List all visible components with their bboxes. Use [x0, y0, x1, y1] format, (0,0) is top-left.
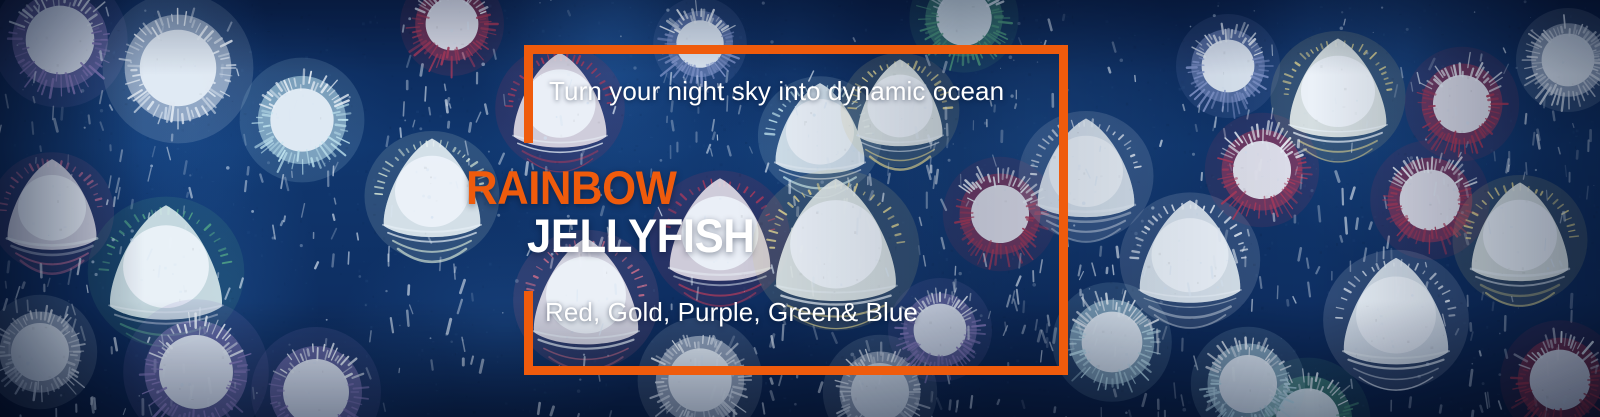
- frame-top-bar: [524, 45, 1068, 54]
- frame-left-upper-bar: [524, 45, 533, 143]
- frame-right-bar: [1059, 45, 1068, 375]
- frame-bottom-bar: [524, 366, 1068, 375]
- background-artwork: [0, 0, 1600, 417]
- headline-accent-rainbow: RAINBOW: [466, 163, 676, 213]
- banner-colors-list: Red, Gold, Purple, Green& Blue: [545, 295, 918, 329]
- headline-main-jellyfish: JELLYFISH: [527, 211, 754, 261]
- frame-left-lower-bar: [524, 291, 533, 375]
- rainbow-jellyfish-banner: Turn your night sky into dynamic ocean R…: [0, 0, 1600, 417]
- banner-tagline: Turn your night sky into dynamic ocean: [549, 74, 1019, 108]
